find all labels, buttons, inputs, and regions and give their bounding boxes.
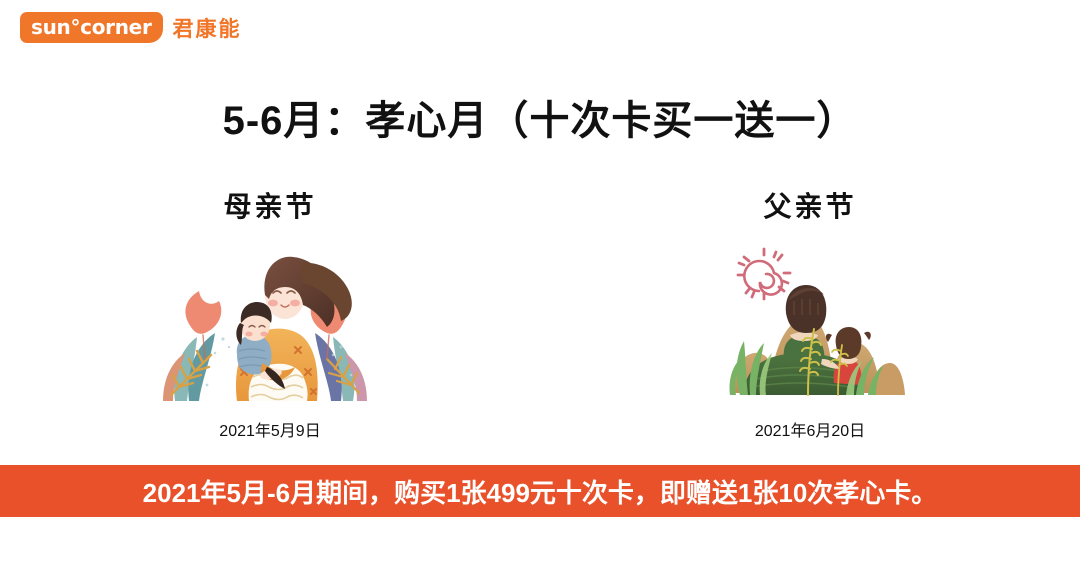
column-caption-fathers-day: 2021年6月20日 xyxy=(755,417,865,441)
column-fathers-day: 父亲节 xyxy=(540,185,1080,441)
promo-banner: 2021年5月-6月期间，购买1张499元十次卡，即赠送1张10次孝心卡。 xyxy=(0,465,1080,517)
mother-holding-child-illustration xyxy=(145,243,395,403)
promo-banner-text: 2021年5月-6月期间，购买1张499元十次卡，即赠送1张10次孝心卡。 xyxy=(143,473,938,510)
column-heading-mothers-day: 母亲节 xyxy=(223,185,316,225)
column-caption-mothers-day: 2021年5月9日 xyxy=(219,417,320,441)
page-title: 5-6月：孝心月（十次卡买一送一） xyxy=(0,88,1080,146)
column-heading-fathers-day: 父亲节 xyxy=(763,185,856,225)
father-and-child-watching-sun-illustration xyxy=(710,243,910,403)
brand-logo: sun°corner 君康能 xyxy=(20,12,242,43)
festival-columns: 母亲节 xyxy=(0,185,1080,441)
logo-badge: sun°corner xyxy=(20,12,163,43)
column-mothers-day: 母亲节 xyxy=(0,185,540,441)
logo-wordmark: sun°corner xyxy=(31,17,152,37)
logo-chinese-name: 君康能 xyxy=(173,13,242,43)
